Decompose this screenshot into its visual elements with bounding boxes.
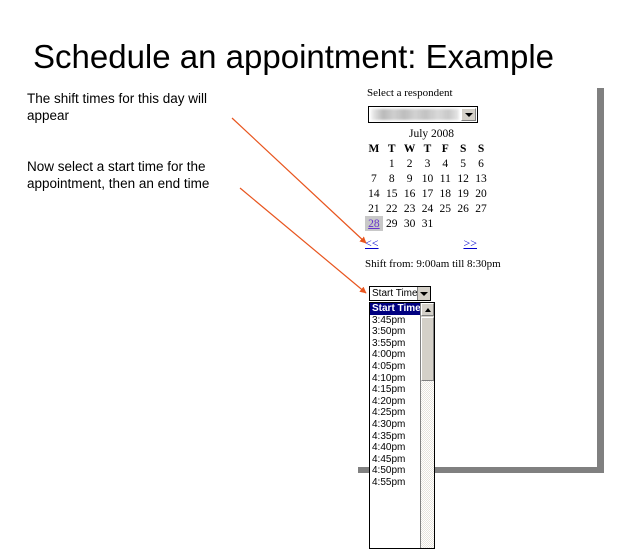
start-time-option[interactable]: 4:00pm xyxy=(370,349,420,361)
calendar-day[interactable]: 29 xyxy=(383,216,401,231)
calendar-weekday: T xyxy=(383,142,401,156)
calendar-day[interactable]: 26 xyxy=(454,201,472,216)
calendar-day[interactable]: 30 xyxy=(401,216,419,231)
calendar-day[interactable]: 31 xyxy=(419,216,437,231)
calendar-day-selected[interactable]: 28 xyxy=(365,216,383,231)
start-time-option[interactable]: 4:25pm xyxy=(370,407,420,419)
calendar-day[interactable]: 9 xyxy=(401,171,419,186)
calendar-day xyxy=(454,216,472,231)
calendar-week-row: 1 2 3 4 5 6 xyxy=(365,156,490,171)
calendar-day[interactable]: 18 xyxy=(436,186,454,201)
calendar-widget: July 2008 M T W T F S S xyxy=(365,128,490,231)
panel-shadow-right xyxy=(597,88,604,473)
calendar-day xyxy=(436,216,454,231)
calendar-day[interactable]: 6 xyxy=(472,156,490,171)
scroll-up-arrow-icon[interactable] xyxy=(421,303,434,316)
calendar-week-row: 7 8 9 10 11 12 13 xyxy=(365,171,490,186)
calendar-day[interactable]: 15 xyxy=(383,186,401,201)
calendar-day[interactable]: 27 xyxy=(472,201,490,216)
start-time-option-selected[interactable]: Start Time xyxy=(370,303,420,315)
calendar-day[interactable]: 20 xyxy=(472,186,490,201)
calendar-week-row: 14 15 16 17 18 19 20 xyxy=(365,186,490,201)
calendar-month-label: July 2008 xyxy=(365,128,490,142)
calendar-day[interactable]: 12 xyxy=(454,171,472,186)
start-time-option[interactable]: 4:55pm xyxy=(370,477,420,489)
calendar-day[interactable]: 4 xyxy=(436,156,454,171)
start-time-option[interactable]: 4:05pm xyxy=(370,361,420,373)
calendar-day[interactable]: 24 xyxy=(419,201,437,216)
embedded-screenshot-panel: Select a respondent July 2008 M T W T F … xyxy=(351,82,597,467)
scrollbar-thumb[interactable] xyxy=(421,317,434,381)
listbox-scrollbar[interactable] xyxy=(420,303,434,548)
start-time-option[interactable]: 4:20pm xyxy=(370,396,420,408)
calendar-weekday: S xyxy=(472,142,490,156)
annotation-shift-times: The shift times for this day will appear xyxy=(27,90,242,124)
calendar-day[interactable]: 2 xyxy=(401,156,419,171)
chevron-down-icon[interactable] xyxy=(417,287,430,300)
calendar-weekday: W xyxy=(401,142,419,156)
start-time-dropdown-listbox[interactable]: Start Time3:45pm3:50pm3:55pm4:00pm4:05pm… xyxy=(369,302,435,549)
start-time-option[interactable]: 4:30pm xyxy=(370,419,420,431)
start-time-selected-value: Start Time xyxy=(370,287,417,300)
start-time-option[interactable]: 4:40pm xyxy=(370,442,420,454)
calendar-weekday: M xyxy=(365,142,383,156)
respondent-label: Select a respondent xyxy=(367,87,453,99)
start-time-option[interactable]: 3:50pm xyxy=(370,326,420,338)
calendar-week-row: 21 22 23 24 25 26 27 xyxy=(365,201,490,216)
start-time-option[interactable]: 4:35pm xyxy=(370,431,420,443)
calendar-day[interactable]: 1 xyxy=(383,156,401,171)
arrow-to-calendar xyxy=(232,118,366,243)
start-time-option[interactable]: 4:50pm xyxy=(370,465,420,477)
arrow-to-start-time xyxy=(240,188,366,293)
slide-canvas: Schedule an appointment: Example The shi… xyxy=(0,0,640,480)
scrollbar-track[interactable] xyxy=(421,381,434,548)
calendar-day[interactable]: 13 xyxy=(472,171,490,186)
calendar-day[interactable]: 16 xyxy=(401,186,419,201)
calendar-weekday: T xyxy=(419,142,437,156)
calendar-weekday: F xyxy=(436,142,454,156)
calendar-day[interactable]: 21 xyxy=(365,201,383,216)
calendar-header-row: M T W T F S S xyxy=(365,142,490,156)
calendar-day[interactable]: 7 xyxy=(365,171,383,186)
calendar-day xyxy=(472,216,490,231)
calendar-day[interactable]: 22 xyxy=(383,201,401,216)
calendar-week-row: 28 29 30 31 xyxy=(365,216,490,231)
calendar-day[interactable]: 8 xyxy=(383,171,401,186)
calendar-day[interactable]: 11 xyxy=(436,171,454,186)
start-time-option[interactable]: 3:55pm xyxy=(370,338,420,350)
calendar-grid: M T W T F S S 1 2 3 4 xyxy=(365,142,490,231)
shift-hours-text: Shift from: 9:00am till 8:30pm xyxy=(365,258,501,270)
start-time-option[interactable]: 4:15pm xyxy=(370,384,420,396)
start-time-option-list: Start Time3:45pm3:50pm3:55pm4:00pm4:05pm… xyxy=(370,303,420,548)
chevron-down-icon[interactable] xyxy=(461,108,476,121)
calendar-day[interactable]: 23 xyxy=(401,201,419,216)
respondent-select[interactable] xyxy=(368,106,478,123)
calendar-weekday: S xyxy=(454,142,472,156)
start-time-select[interactable]: Start Time xyxy=(369,286,431,301)
calendar-day[interactable]: 10 xyxy=(419,171,437,186)
calendar-navigation: << >> xyxy=(365,236,477,251)
calendar-day[interactable]: 17 xyxy=(419,186,437,201)
page-title: Schedule an appointment: Example xyxy=(33,38,613,76)
calendar-prev-link[interactable]: << xyxy=(365,236,379,251)
start-time-option[interactable]: 4:45pm xyxy=(370,454,420,466)
calendar-day[interactable]: 25 xyxy=(436,201,454,216)
start-time-option[interactable]: 4:10pm xyxy=(370,373,420,385)
calendar-day[interactable]: 19 xyxy=(454,186,472,201)
calendar-day[interactable]: 3 xyxy=(419,156,437,171)
calendar-day xyxy=(365,156,383,171)
annotation-select-start-time: Now select a start time for the appointm… xyxy=(27,158,242,192)
calendar-day[interactable]: 5 xyxy=(454,156,472,171)
start-time-option[interactable]: 3:45pm xyxy=(370,315,420,327)
calendar-next-link[interactable]: >> xyxy=(463,236,477,251)
respondent-selected-value xyxy=(371,109,459,120)
calendar-day[interactable]: 14 xyxy=(365,186,383,201)
